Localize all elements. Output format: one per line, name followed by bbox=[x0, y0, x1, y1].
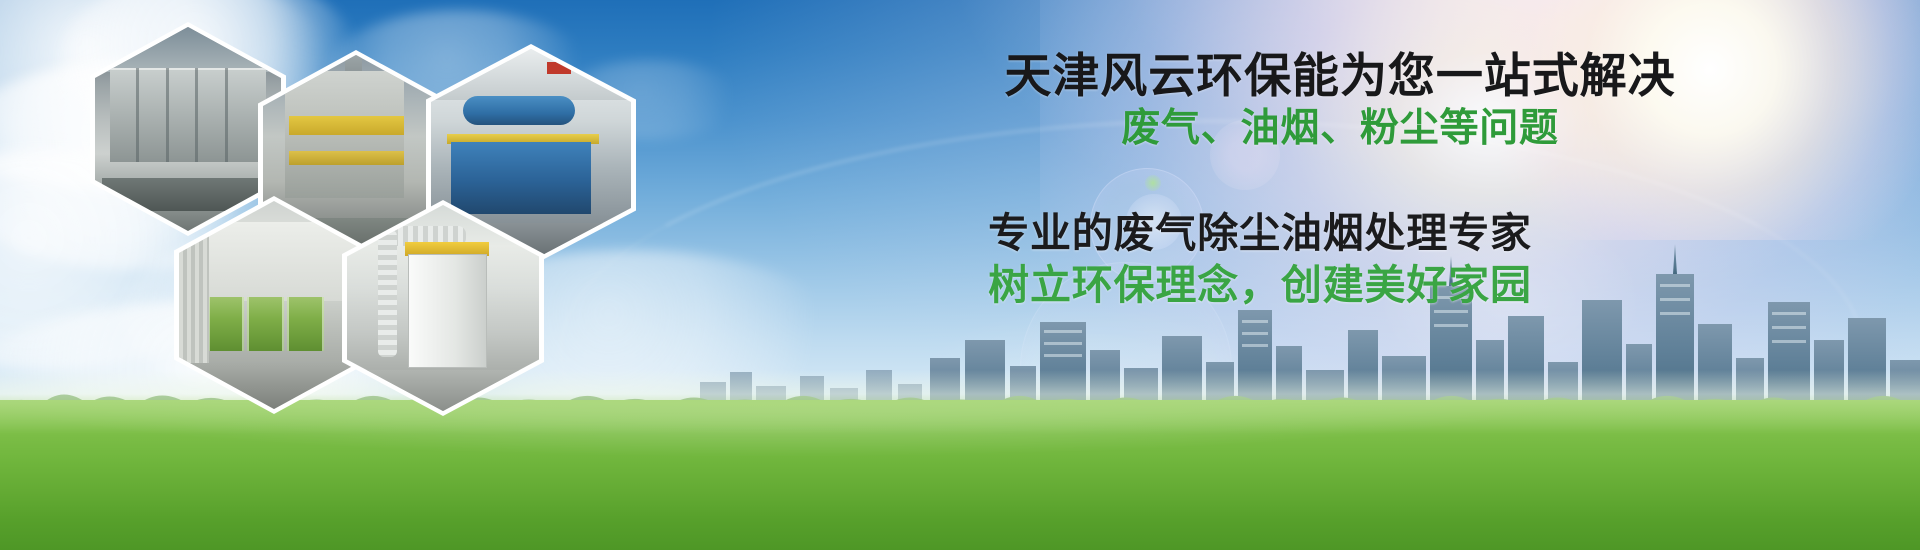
photo-frame bbox=[95, 27, 281, 231]
hex-photo-collage bbox=[70, 14, 690, 414]
hex-photo-dust-collector[interactable] bbox=[90, 22, 286, 236]
hero-banner: 天津风云环保能为您一站式解决 废气、油烟、粉尘等问题 专业的废气除尘油烟处理专家… bbox=[0, 0, 1920, 550]
